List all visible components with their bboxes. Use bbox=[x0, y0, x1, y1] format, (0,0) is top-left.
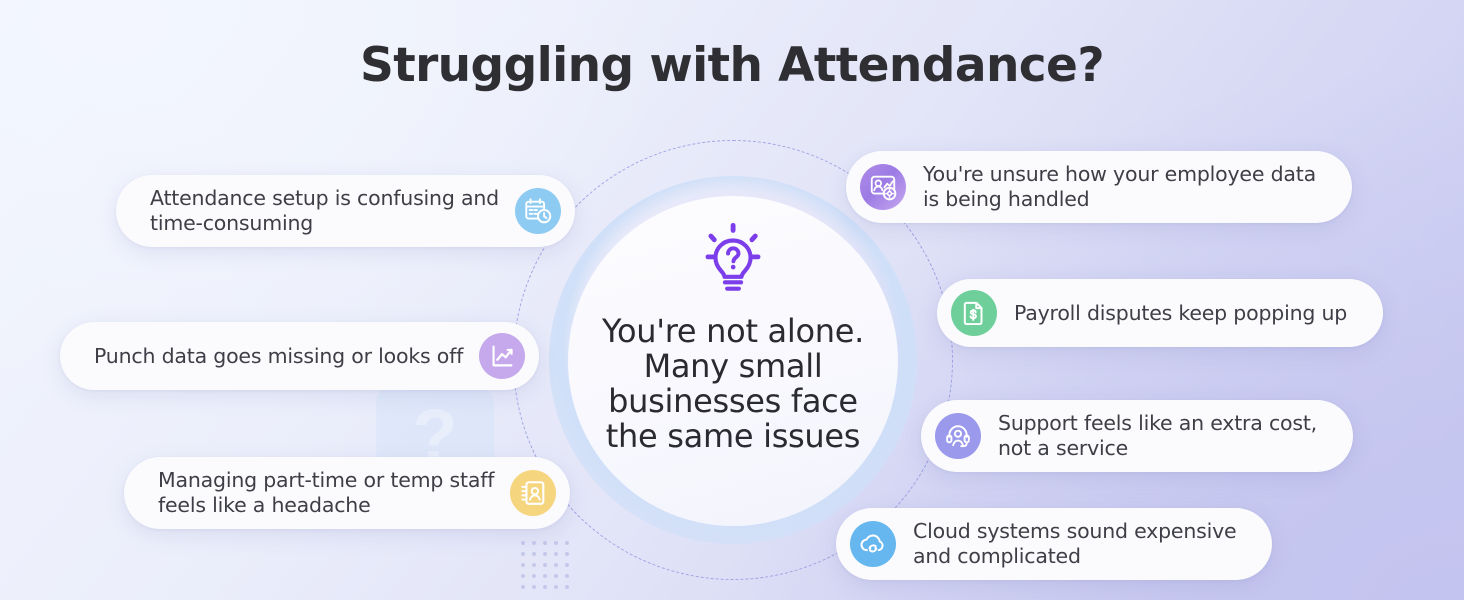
page-title: Struggling with Attendance? bbox=[0, 38, 1464, 93]
lightbulb-question-icon bbox=[688, 218, 778, 308]
line-chart-icon bbox=[479, 333, 525, 379]
payroll-dollar-document-icon bbox=[951, 290, 997, 336]
calendar-clock-icon bbox=[515, 188, 561, 234]
pill-attendance-setup[interactable]: Attendance setup is confusing and time-c… bbox=[116, 175, 575, 247]
pill-label: Punch data goes missing or looks off bbox=[94, 344, 463, 369]
pill-part-time-staff[interactable]: Managing part-time or temp staff feels l… bbox=[124, 457, 570, 529]
pill-label: You're unsure how your employee data is … bbox=[923, 162, 1316, 212]
pill-label: Payroll disputes keep popping up bbox=[1014, 301, 1347, 326]
center-message-text: You're not alone. Many small businesses … bbox=[583, 314, 883, 454]
pill-punch-data[interactable]: Punch data goes missing or looks off bbox=[60, 322, 539, 390]
pill-label: Cloud systems sound expensive and compli… bbox=[913, 519, 1236, 569]
support-headset-icon bbox=[935, 413, 981, 459]
user-data-settings-icon bbox=[860, 164, 906, 210]
pill-employee-data-privacy[interactable]: You're unsure how your employee data is … bbox=[846, 151, 1352, 223]
pill-label: Support feels like an extra cost, not a … bbox=[998, 411, 1317, 461]
pill-label: Attendance setup is confusing and time-c… bbox=[150, 186, 499, 236]
dot-grid-decoration bbox=[521, 541, 576, 596]
pill-support-cost[interactable]: Support feels like an extra cost, not a … bbox=[921, 400, 1353, 472]
center-message-block: You're not alone. Many small businesses … bbox=[568, 196, 898, 526]
pill-cloud-systems[interactable]: Cloud systems sound expensive and compli… bbox=[836, 508, 1272, 580]
contact-card-icon bbox=[510, 470, 556, 516]
pill-payroll-disputes[interactable]: Payroll disputes keep popping up bbox=[937, 279, 1383, 347]
pill-label: Managing part-time or temp staff feels l… bbox=[158, 468, 494, 518]
cloud-sync-icon bbox=[850, 521, 896, 567]
